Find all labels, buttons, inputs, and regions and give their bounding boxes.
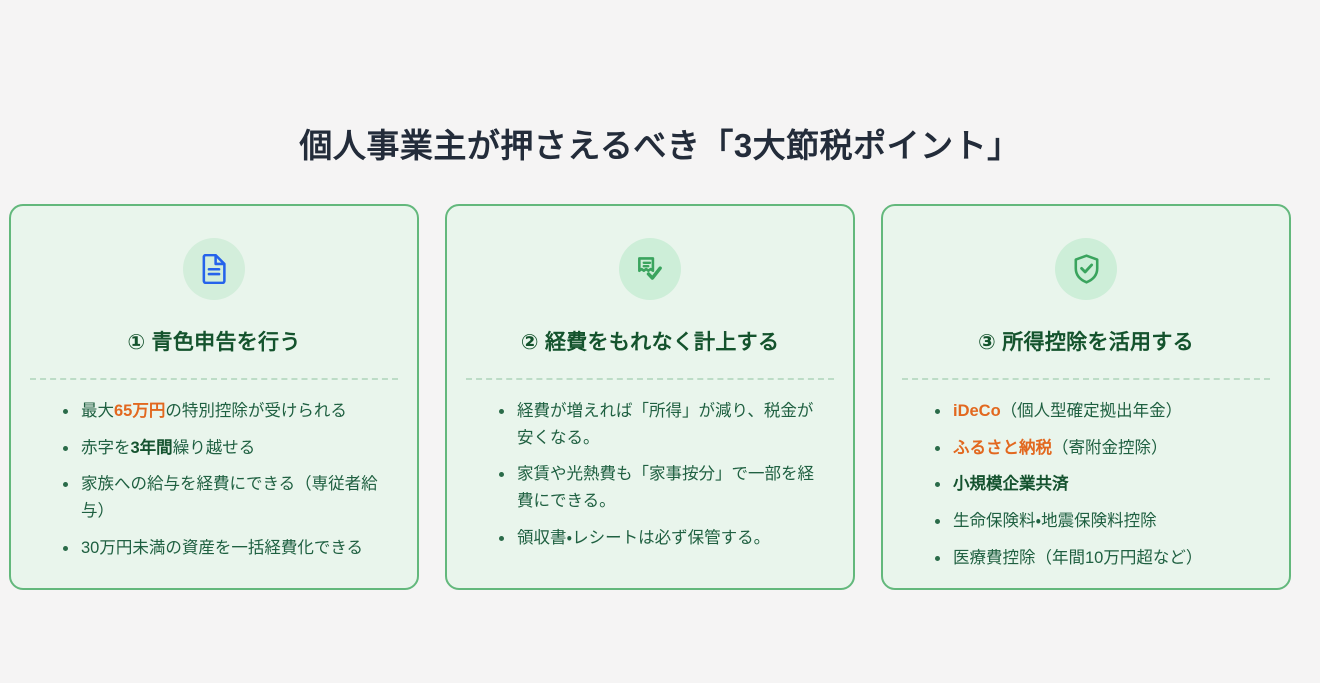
bullet-item: 医療費控除（年間10万円超など）: [933, 545, 1263, 572]
divider: [902, 378, 1270, 380]
bullet-text-run: 最大: [81, 402, 114, 420]
bullet-text-run: 繰り越せる: [173, 439, 256, 457]
icon-badge: [183, 238, 245, 300]
card-blue-return: ① 青色申告を行う 最大65万円の特別控除が受けられる赤字を3年間繰り越せる家族…: [9, 204, 419, 590]
bullet-text-run: 経費が増えれば「所得」が減り、税金が安くなる。: [517, 402, 813, 447]
bullet-list: 最大65万円の特別控除が受けられる赤字を3年間繰り越せる家族への給与を経費にでき…: [31, 398, 397, 572]
document-icon: [200, 254, 228, 284]
icon-badge: [1055, 238, 1117, 300]
bullet-text-run: ふるさと納税: [953, 439, 1052, 457]
bullet-text-run: 65万円: [114, 402, 165, 420]
bullet-text-run: iDeCo: [953, 402, 1001, 420]
bullet-text-run: 赤字を: [81, 439, 131, 457]
bullet-item: 家族への給与を経費にできる（専従者給与）: [61, 471, 391, 524]
bullet-text-run: （個人型確定拠出年金）: [1001, 402, 1183, 420]
bullet-item: 最大65万円の特別控除が受けられる: [61, 398, 391, 425]
bullet-text-run: 小規模企業共済: [953, 475, 1069, 493]
bullet-item: 小規模企業共済: [933, 471, 1263, 498]
card-expenses: ② 経費をもれなく計上する 経費が増えれば「所得」が減り、税金が安くなる。家賃や…: [445, 204, 855, 590]
bullet-item: 家賃や光熱費も「家事按分」で一部を経費にできる。: [497, 461, 827, 514]
card-heading: ② 経費をもれなく計上する: [521, 326, 780, 356]
bullet-text-run: 家族への給与を経費にできる（専従者給与）: [81, 475, 378, 520]
divider: [30, 378, 398, 380]
bullet-list: iDeCo（個人型確定拠出年金）ふるさと納税（寄附金控除）小規模企業共済生命保険…: [903, 398, 1269, 582]
icon-badge: [619, 238, 681, 300]
bullet-text-run: 生命保険料・地震保険料控除: [953, 512, 1157, 530]
bullet-text-run: 医療費控除（年間10万円超など）: [953, 549, 1202, 567]
bullet-text-run: の特別控除が受けられる: [165, 402, 347, 420]
bullet-item: 経費が増えれば「所得」が減り、税金が安くなる。: [497, 398, 827, 451]
bullet-text-run: 家賃や光熱費も「家事按分」で一部を経費にできる。: [517, 465, 814, 510]
bullet-text-run: 30万円未満の資産を一括経費化できる: [81, 539, 363, 557]
page-root: 個人事業主が押さえるべき「3大節税ポイント」 ① 青色申告を行う 最大65万円の…: [0, 0, 1320, 683]
bullet-text-run: 3年間: [131, 439, 173, 457]
divider: [466, 378, 834, 380]
page-title: 個人事業主が押さえるべき「3大節税ポイント」: [0, 125, 1320, 168]
bullet-list: 経費が増えれば「所得」が減り、税金が安くなる。家賃や光熱費も「家事按分」で一部を…: [467, 398, 833, 562]
card-heading: ③ 所得控除を活用する: [978, 326, 1194, 356]
bullet-item: 30万円未満の資産を一括経費化できる: [61, 535, 391, 562]
card-deductions: ③ 所得控除を活用する iDeCo（個人型確定拠出年金）ふるさと納税（寄附金控除…: [881, 204, 1291, 590]
shield-check-icon: [1072, 254, 1101, 284]
bullet-item: 生命保険料・地震保険料控除: [933, 508, 1263, 535]
bullet-item: 領収書・レシートは必ず保管する。: [497, 525, 827, 552]
bullet-text-run: （寄附金控除）: [1052, 439, 1168, 457]
bullet-item: ふるさと納税（寄附金控除）: [933, 435, 1263, 462]
bullet-text-run: 領収書・レシートは必ず保管する。: [517, 529, 770, 547]
card-heading: ① 青色申告を行う: [127, 326, 300, 356]
bullet-item: 赤字を3年間繰り越せる: [61, 435, 391, 462]
cards-container: ① 青色申告を行う 最大65万円の特別控除が受けられる赤字を3年間繰り越せる家族…: [9, 204, 1311, 590]
bullet-item: iDeCo（個人型確定拠出年金）: [933, 398, 1263, 425]
receipt-check-icon: [636, 255, 664, 283]
